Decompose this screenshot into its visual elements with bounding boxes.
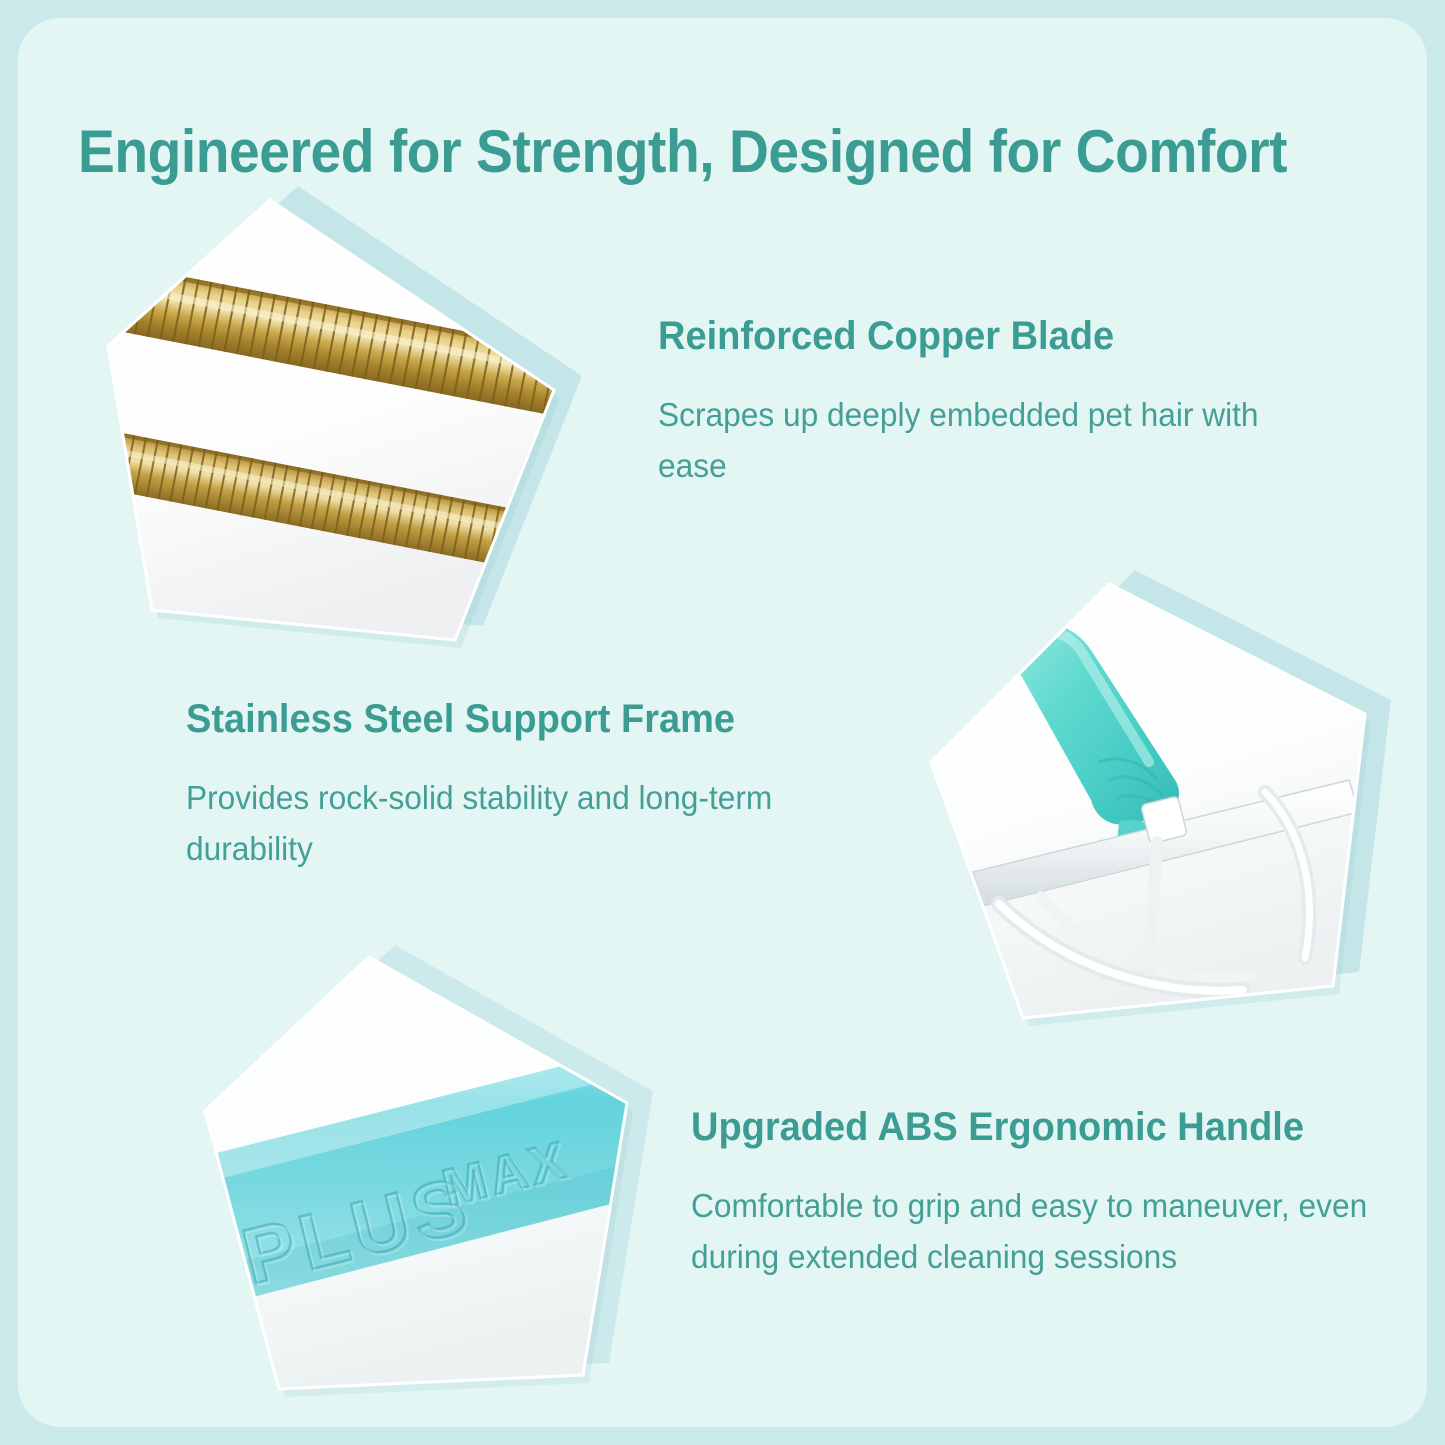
- feature-heading: Reinforced Copper Blade: [658, 313, 1323, 359]
- feature-text-copper-blade: Reinforced Copper Blade Scrapes up deepl…: [658, 313, 1358, 491]
- copper-blade-photo: [90, 178, 570, 638]
- feature-body: Provides rock-solid stability and long-t…: [186, 772, 858, 874]
- feature-body: Comfortable to grip and easy to maneuver…: [691, 1180, 1401, 1282]
- ergonomic-handle-photo: PLUS MAX PLUS MAX: [183, 943, 653, 1423]
- content-panel: Engineered for Strength, Designed for Co…: [18, 18, 1427, 1427]
- feature-heading: Stainless Steel Support Frame: [186, 696, 851, 742]
- infographic-root: Engineered for Strength, Designed for Co…: [0, 0, 1445, 1445]
- page-title: Engineered for Strength, Designed for Co…: [78, 120, 1302, 183]
- feature-body: Scrapes up deeply embedded pet hair with…: [658, 389, 1330, 491]
- feature-text-support-frame: Stainless Steel Support Frame Provides r…: [186, 696, 886, 874]
- feature-heading: Upgraded ABS Ergonomic Handle: [691, 1104, 1394, 1150]
- feature-text-ergonomic-handle: Upgraded ABS Ergonomic Handle Comfortabl…: [691, 1104, 1427, 1282]
- support-frame-photo: [913, 566, 1383, 1046]
